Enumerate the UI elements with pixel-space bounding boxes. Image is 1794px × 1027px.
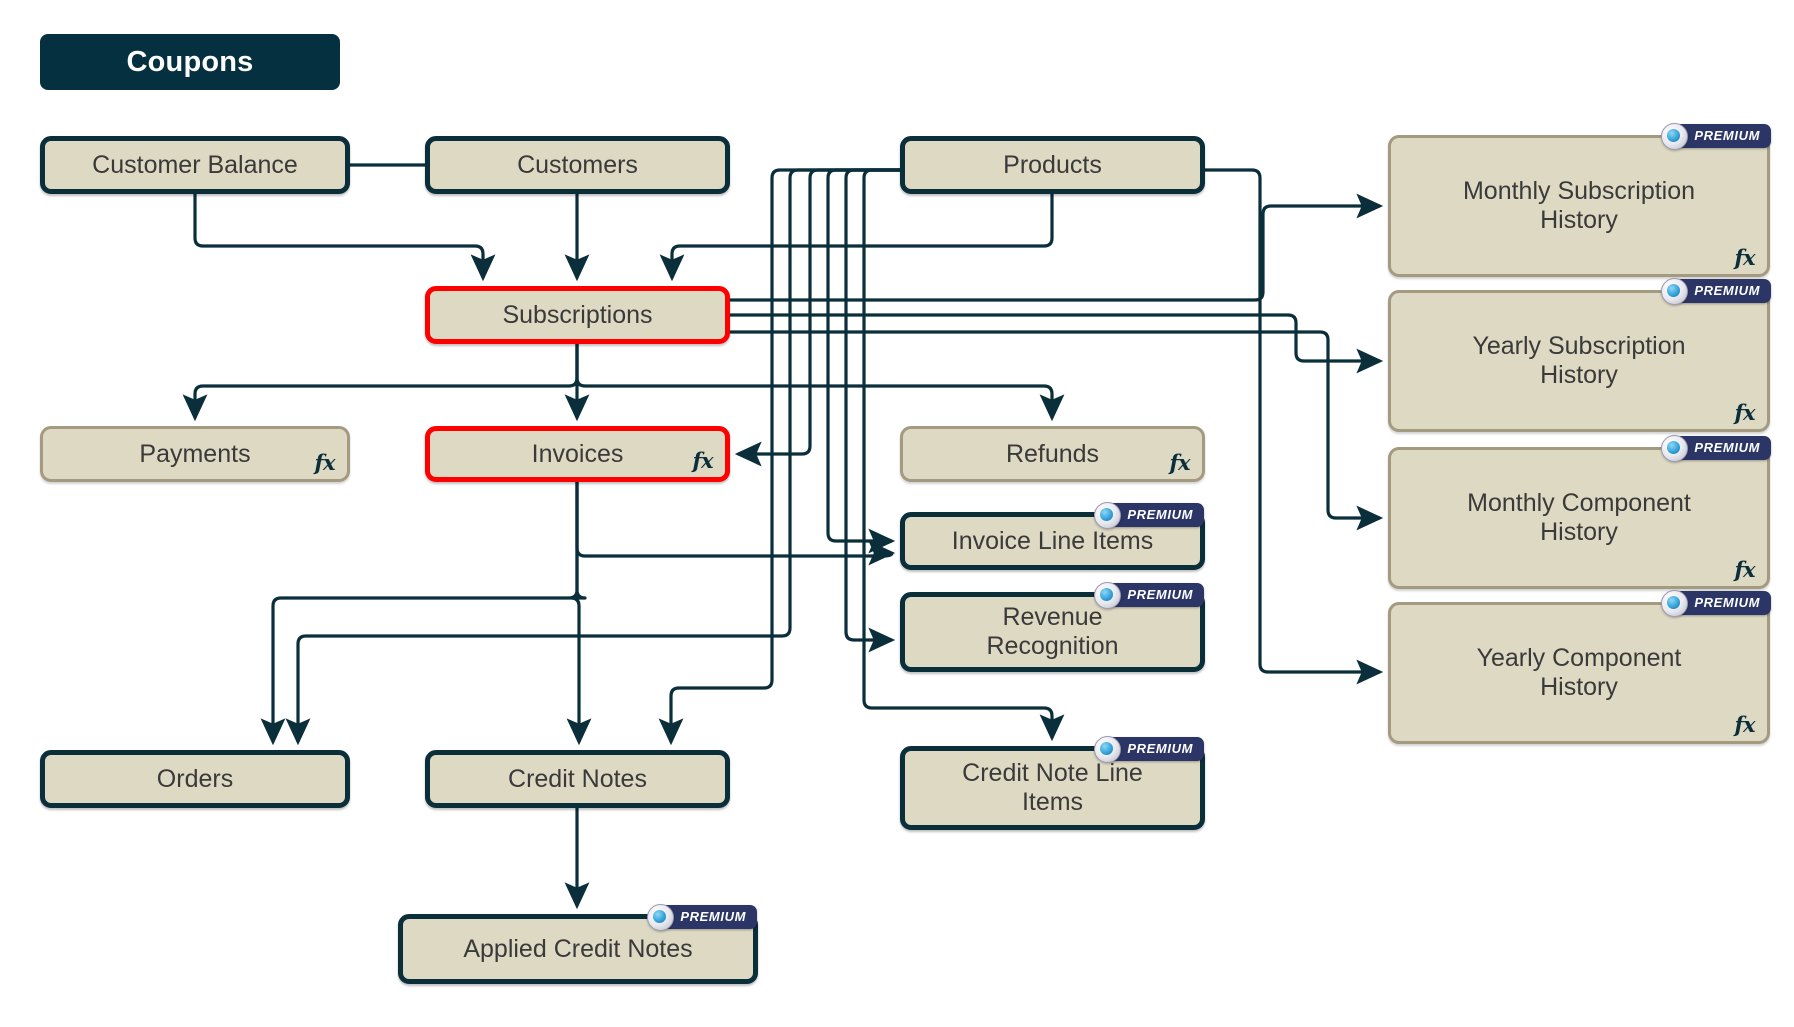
edge-products-revenuerecognition [846, 170, 900, 640]
node-monthly-subscription-history[interactable]: Monthly Subscription HistoryfxPREMIUM [1388, 135, 1770, 277]
edge-subscriptions-monthlycomphistory [730, 332, 1380, 518]
node-refunds[interactable]: Refundsfx [900, 426, 1205, 482]
premium-badge: PREMIUM [1094, 502, 1204, 528]
node-label: Invoices [522, 440, 634, 469]
formula-icon: fx [1734, 246, 1755, 270]
node-label: Subscriptions [492, 301, 662, 330]
node-label: Credit Notes [498, 765, 657, 794]
formula-icon: fx [1734, 558, 1755, 582]
edge-products-subscriptions [672, 194, 1052, 278]
node-payments[interactable]: Paymentsfx [40, 426, 350, 482]
node-revenue-recognition[interactable]: Revenue RecognitionPREMIUM [900, 592, 1205, 672]
node-label: Payments [129, 440, 260, 469]
node-products[interactable]: Products [900, 136, 1205, 194]
edge-products-invoicelineitems [828, 170, 900, 541]
edge-invoices-invoicelineitems [577, 482, 892, 556]
premium-orb-icon [1094, 736, 1121, 763]
node-label: Invoice Line Items [942, 527, 1164, 556]
node-label: Credit Note Line Items [952, 759, 1153, 817]
formula-icon: fx [314, 451, 335, 475]
premium-orb-icon [1661, 590, 1688, 617]
node-yearly-subscription-history[interactable]: Yearly Subscription HistoryfxPREMIUM [1388, 290, 1770, 432]
formula-icon: fx [1734, 401, 1755, 425]
page-title: Coupons [40, 34, 340, 90]
premium-orb-icon [1661, 435, 1688, 462]
node-label: Orders [147, 765, 243, 794]
node-customer-balance[interactable]: Customer Balance [40, 136, 350, 194]
edge-subscriptions-refunds [577, 344, 1052, 418]
premium-orb-icon [1661, 123, 1688, 150]
premium-badge: PREMIUM [647, 904, 757, 930]
formula-icon: fx [1169, 451, 1190, 475]
edge-subscriptions-payments [195, 344, 577, 418]
premium-badge: PREMIUM [1661, 435, 1771, 461]
node-label: Monthly Component History [1457, 489, 1701, 547]
premium-orb-icon [647, 904, 674, 931]
edge-subscriptions-yearlysubhistory [730, 315, 1380, 361]
formula-icon: fx [1734, 713, 1755, 737]
node-label: Applied Credit Notes [453, 935, 702, 964]
edge-customerbalance-subscriptions [195, 194, 483, 278]
node-yearly-component-history[interactable]: Yearly Component HistoryfxPREMIUM [1388, 602, 1770, 744]
edge-products-invoices [738, 170, 900, 454]
node-label: Yearly Subscription History [1462, 332, 1695, 390]
formula-icon: fx [692, 449, 713, 473]
node-invoices[interactable]: Invoicesfx [425, 426, 730, 482]
premium-badge: PREMIUM [1094, 736, 1204, 762]
node-label: Products [993, 151, 1112, 180]
premium-badge: PREMIUM [1094, 582, 1204, 608]
premium-orb-icon [1094, 502, 1121, 529]
premium-badge: PREMIUM [1661, 123, 1771, 149]
node-applied-credit-notes[interactable]: Applied Credit NotesPREMIUM [398, 914, 758, 984]
node-label: Refunds [996, 440, 1109, 469]
edge-subscriptions-yearlycomphistory [1205, 170, 1380, 672]
node-monthly-component-history[interactable]: Monthly Component HistoryfxPREMIUM [1388, 447, 1770, 589]
premium-orb-icon [1661, 278, 1688, 305]
node-customers[interactable]: Customers [425, 136, 730, 194]
node-subscriptions[interactable]: Subscriptions [425, 286, 730, 344]
edge-invoices-orders [273, 482, 577, 742]
edge-subscriptions-monthlysubhistory [730, 206, 1380, 300]
page-title-label: Coupons [126, 46, 253, 79]
premium-orb-icon [1094, 582, 1121, 609]
edge-invoices-creditnotes [571, 482, 585, 742]
node-label: Revenue Recognition [976, 603, 1128, 661]
node-label: Customers [507, 151, 648, 180]
premium-badge: PREMIUM [1661, 278, 1771, 304]
node-label: Monthly Subscription History [1453, 177, 1705, 235]
premium-badge: PREMIUM [1661, 590, 1771, 616]
node-credit-notes[interactable]: Credit Notes [425, 750, 730, 808]
node-orders[interactable]: Orders [40, 750, 350, 808]
node-invoice-line-items[interactable]: Invoice Line ItemsPREMIUM [900, 512, 1205, 570]
node-label: Customer Balance [82, 151, 308, 180]
node-label: Yearly Component History [1467, 644, 1692, 702]
node-credit-note-line-items[interactable]: Credit Note Line ItemsPREMIUM [900, 746, 1205, 830]
diagram-canvas: Coupons Customer BalanceCustomersProduct… [0, 0, 1794, 1027]
